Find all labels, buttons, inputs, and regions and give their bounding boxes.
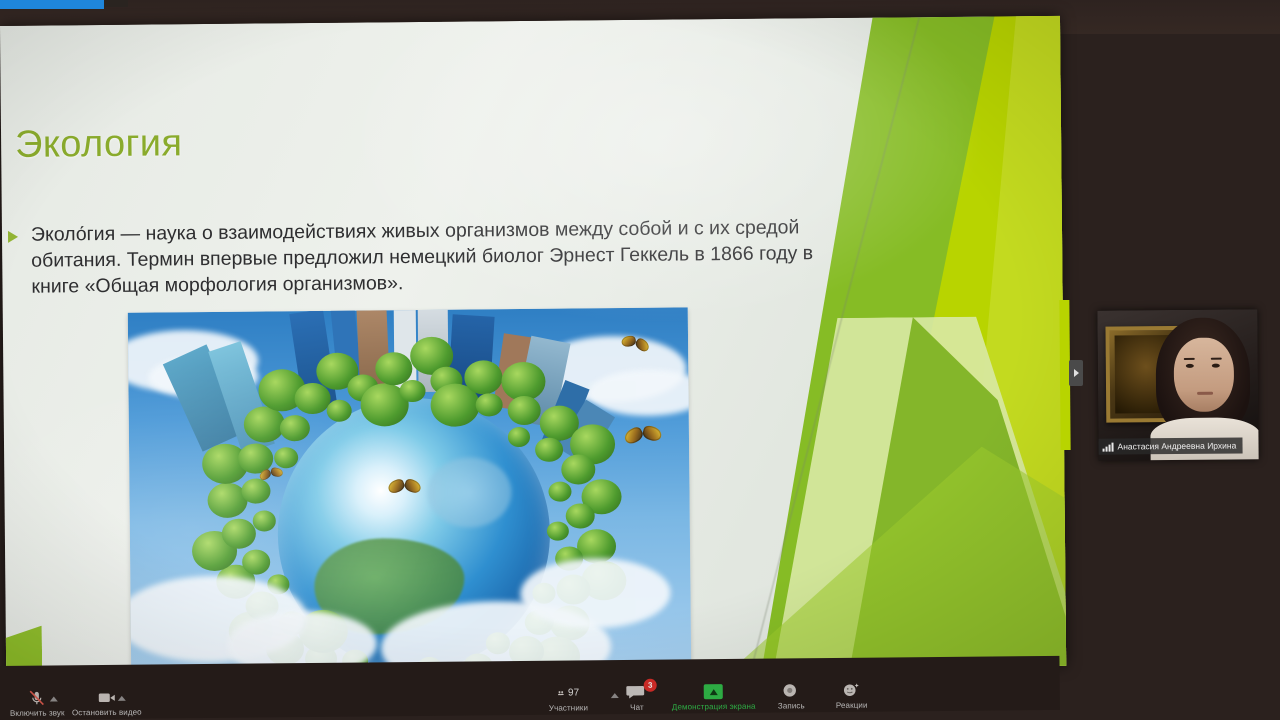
chevron-up-icon[interactable] — [611, 693, 619, 698]
tree — [253, 511, 276, 531]
slide-crease-line — [682, 17, 988, 672]
toolbar-stop-video-label: Остановить видео — [72, 708, 142, 718]
share-screen-icon — [703, 683, 725, 700]
camera-icon — [96, 689, 118, 706]
toolbar-unmute-button[interactable]: Включить звук — [10, 689, 65, 718]
tree — [221, 519, 255, 549]
reactions-icon — [840, 682, 862, 699]
tree — [565, 503, 594, 529]
taskbar-dark-strip — [104, 0, 128, 7]
participant-video-thumbnail[interactable]: Анастасия Андреевна Ирхина — [1097, 309, 1258, 460]
participant-face — [1174, 338, 1235, 413]
tree — [294, 383, 330, 415]
chevron-up-icon[interactable] — [50, 696, 58, 701]
participant-brow-right — [1211, 358, 1222, 360]
participants-count: 97 — [568, 687, 579, 698]
toolbar-reactions-label: Реакции — [836, 701, 868, 710]
zoom-toolbar: Включить звук Остановить видео — [0, 656, 1060, 720]
toolbar-participants-label: Участники — [549, 703, 588, 712]
tree — [548, 481, 571, 501]
tree — [327, 400, 352, 422]
signal-bars-icon — [1102, 442, 1113, 451]
toolbar-chat-label: Чат — [630, 703, 644, 712]
toolbar-participants-button[interactable]: 97 Участники — [549, 684, 588, 712]
powerpoint-slide: Экология Эколо́гия — наука о взаимодейст… — [0, 16, 1066, 676]
slide-title: Экология — [15, 122, 183, 167]
screen-photo: Экология Эколо́гия — наука о взаимодейст… — [0, 0, 1280, 720]
slide-image — [128, 307, 691, 674]
chat-unread-badge: 3 — [644, 679, 657, 692]
tree — [280, 415, 310, 442]
chevron-up-icon[interactable] — [118, 696, 126, 701]
toolbar-stop-video-button[interactable]: Остановить видео — [72, 689, 142, 718]
toolbar-record-button[interactable]: Запись — [778, 682, 805, 710]
tree — [507, 395, 540, 424]
tree — [242, 550, 270, 575]
toolbar-record-label: Запись — [778, 701, 805, 710]
slide-bullet-row: Эколо́гия — наука о взаимодействиях живы… — [8, 214, 819, 300]
slide-body-text: Эколо́гия — наука о взаимодействиях живы… — [31, 214, 819, 300]
toolbar-share-screen-button[interactable]: Демонстрация экрана — [672, 683, 756, 712]
participant-eye-right — [1212, 364, 1220, 368]
record-icon — [780, 682, 802, 699]
bullet-triangle-icon — [8, 231, 18, 243]
participants-icon: 97 — [557, 684, 579, 701]
toolbar-chat-button[interactable]: 3 Чат — [626, 684, 648, 712]
tree — [465, 360, 503, 394]
microphone-muted-icon — [26, 690, 48, 707]
toolbar-unmute-label: Включить звук — [10, 708, 65, 718]
toolbar-share-screen-label: Демонстрация экрана — [672, 702, 756, 712]
collapse-thumbnail-handle[interactable] — [1069, 360, 1083, 386]
chat-icon: 3 — [626, 684, 648, 701]
tree — [508, 427, 530, 447]
globe-cloud-swirl — [427, 457, 512, 528]
participant-name-bar: Анастасия Андреевна Ирхина — [1098, 437, 1242, 454]
participant-mouth — [1197, 392, 1213, 395]
taskbar-blue-strip — [0, 0, 104, 9]
participant-brow-left — [1184, 358, 1195, 360]
tree — [244, 406, 285, 442]
participant-name-label: Анастасия Андреевна Ирхина — [1117, 440, 1236, 451]
shared-screen-region[interactable]: Экология Эколо́гия — наука о взаимодейст… — [0, 16, 1066, 676]
tree — [475, 393, 502, 417]
tree — [561, 454, 595, 484]
toolbar-reactions-button[interactable]: Реакции — [836, 682, 868, 710]
